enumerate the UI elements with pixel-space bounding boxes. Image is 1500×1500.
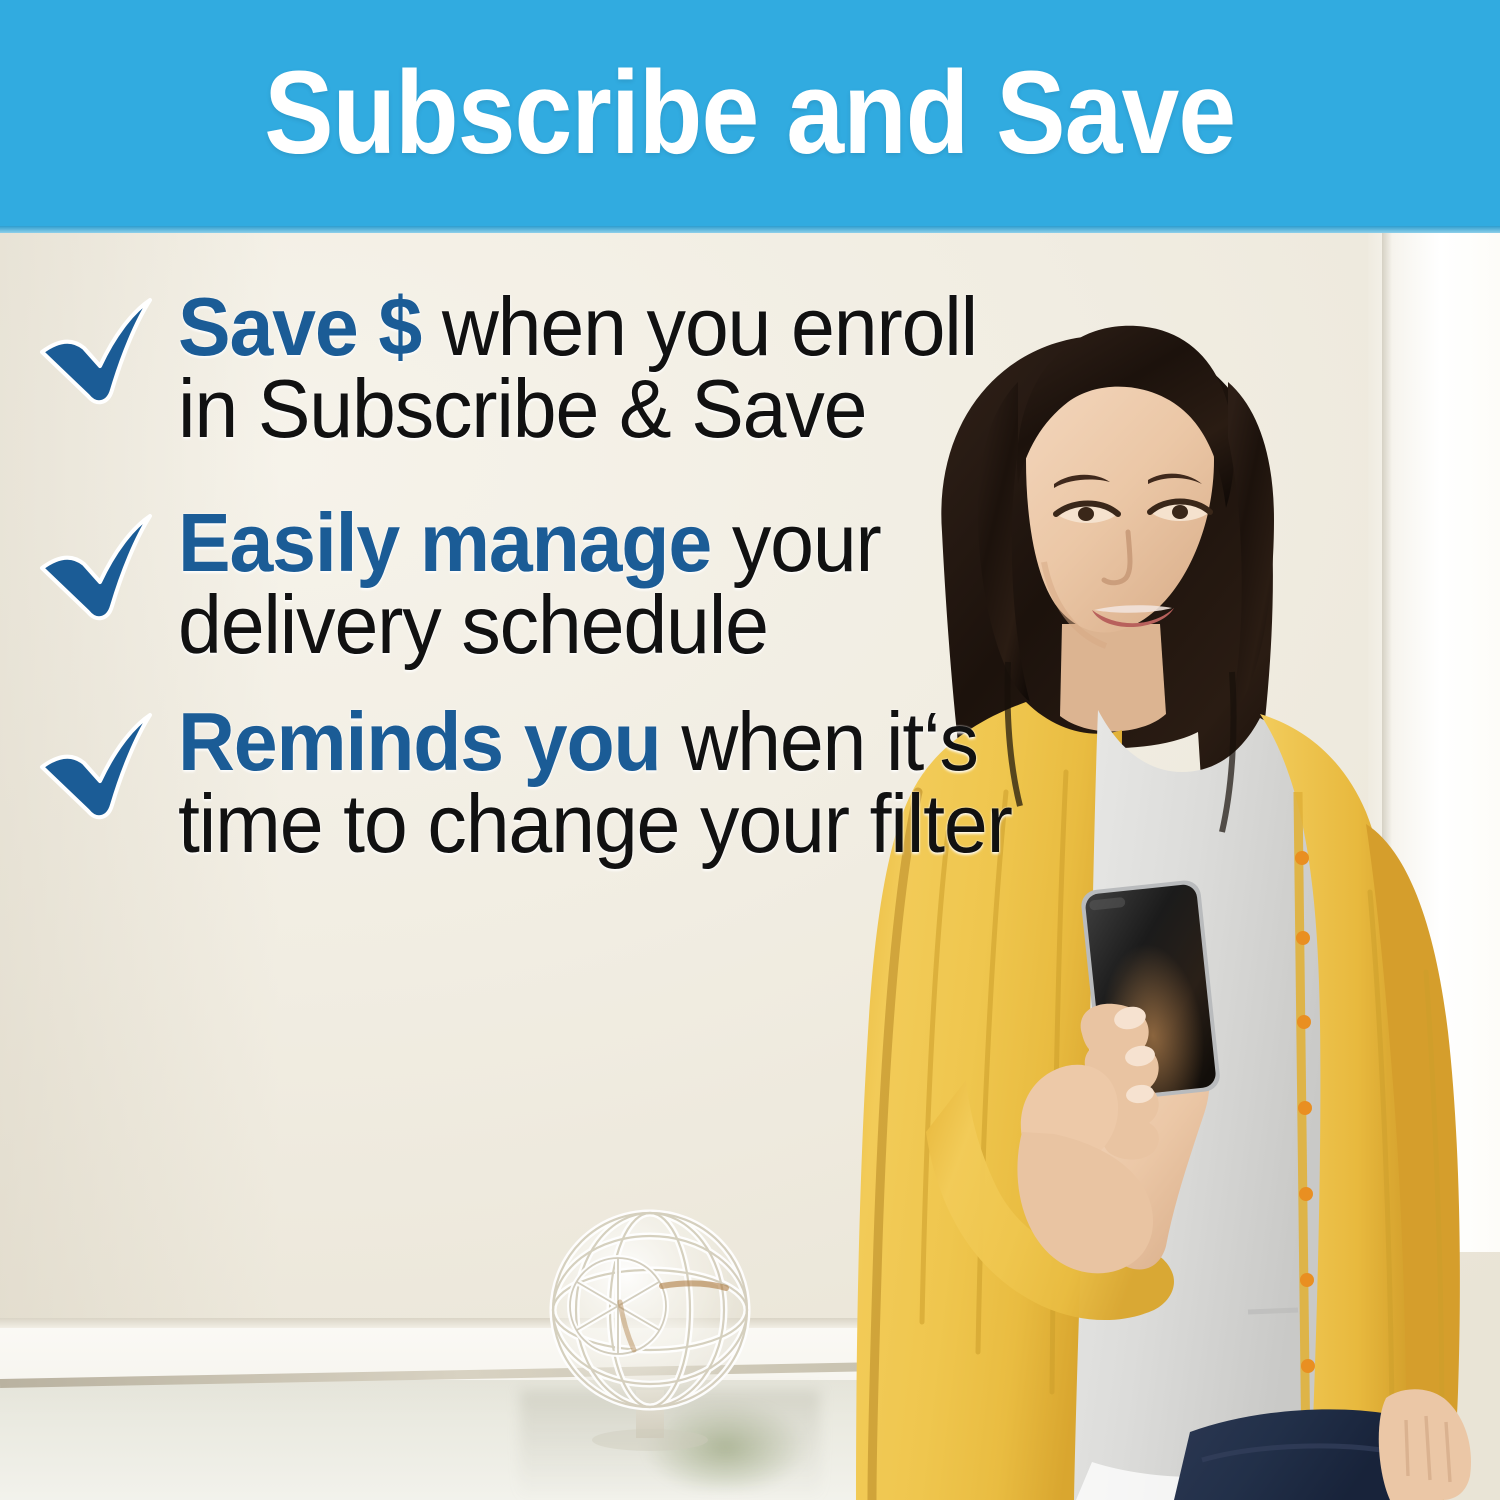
benefit-highlight: Easily manage	[178, 496, 711, 589]
benefit-item-reminds: Reminds you when it‘s time to change you…	[30, 701, 1060, 865]
promo-image: Subscribe and Save Save $ when you enrol…	[0, 0, 1500, 1500]
banner-bottom-edge	[0, 226, 1500, 233]
benefits-list: Save $ when you enroll in Subscribe & Sa…	[0, 232, 1060, 1500]
benefit-text: Save $ when you enroll in Subscribe & Sa…	[178, 286, 1016, 450]
checkmark-icon	[36, 711, 158, 823]
checkmark-icon	[36, 512, 158, 624]
benefit-highlight: Reminds you	[178, 695, 661, 788]
page-title: Subscribe and Save	[264, 54, 1235, 178]
benefit-item-manage: Easily manage your delivery schedule	[30, 502, 1060, 666]
benefit-highlight: Save $	[178, 280, 421, 373]
checkmark-icon	[36, 296, 158, 408]
header-banner: Subscribe and Save	[0, 0, 1500, 232]
benefit-text: Reminds you when it‘s time to change you…	[178, 701, 1016, 865]
benefit-text: Easily manage your delivery schedule	[178, 502, 1016, 666]
benefit-item-save: Save $ when you enroll in Subscribe & Sa…	[30, 286, 1060, 450]
